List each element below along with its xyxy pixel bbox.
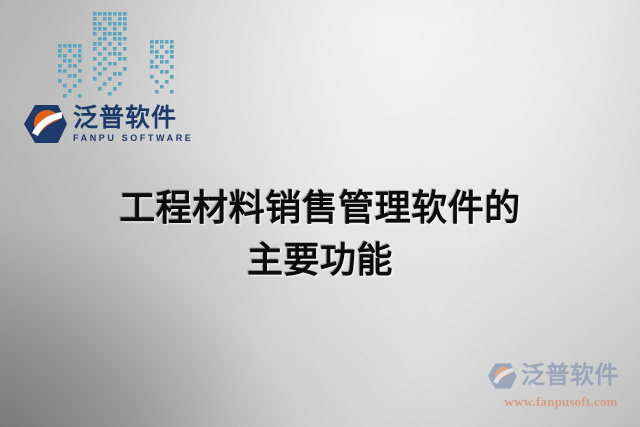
brand-wordmark: 泛普软件 FANPU SOFTWARE: [73, 106, 193, 143]
pixel-skyline-graphic: [55, 6, 175, 101]
fanpu-hexagon-icon: [22, 103, 68, 145]
title-line-1: 工程材料销售管理软件的: [0, 182, 640, 234]
skyline-pixels: [58, 12, 174, 98]
watermark-logo-row: 泛普软件: [486, 362, 636, 390]
fanpu-hexagon-watermark-icon: [486, 362, 518, 390]
brand-name-en: FANPU SOFTWARE: [73, 134, 193, 143]
page-title: 工程材料销售管理软件的 主要功能: [0, 182, 640, 286]
title-line-2: 主要功能: [0, 234, 640, 286]
brand-logo: 泛普软件 FANPU SOFTWARE: [22, 98, 187, 150]
slide-canvas: 泛普软件 FANPU SOFTWARE 工程材料销售管理软件的 主要功能 泛普软…: [0, 0, 640, 427]
brand-name-cn: 泛普软件: [73, 106, 193, 131]
watermark-url: www.fanpusoft.com: [486, 394, 636, 410]
watermark-name-cn: 泛普软件: [521, 364, 619, 388]
watermark: 泛普软件 www.fanpusoft.com: [486, 362, 636, 414]
skyline-svg: [55, 6, 175, 101]
